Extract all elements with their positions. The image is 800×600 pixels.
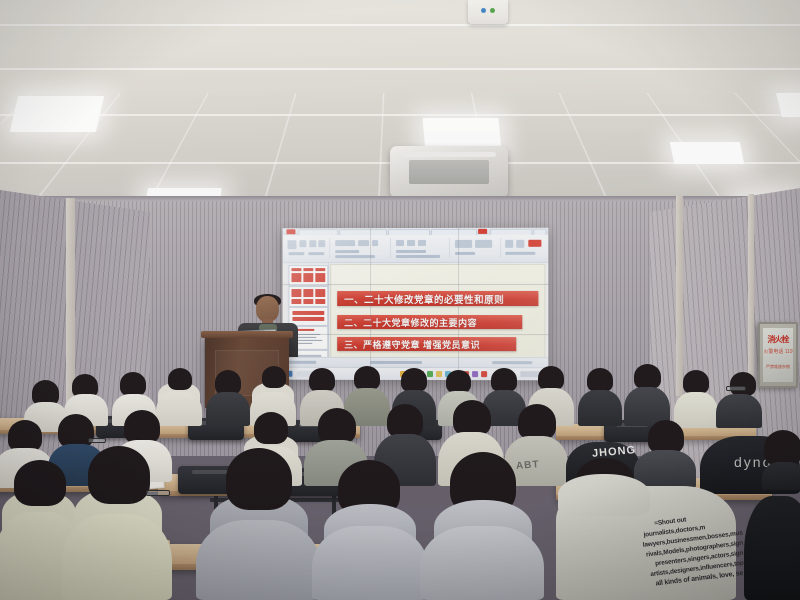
student-torso — [762, 462, 800, 490]
student-torso — [312, 526, 428, 600]
wall-pillar-far-right — [748, 194, 754, 394]
led-panel-light-5 — [670, 142, 745, 164]
student-hair — [453, 400, 491, 436]
ceiling-ac-vent-icon — [390, 146, 508, 198]
student-front-7 — [744, 496, 800, 600]
student-glasses — [146, 490, 170, 496]
student-hair — [262, 366, 286, 388]
slide-band-3: 三、严格遵守党章 增强党员意识 — [337, 337, 516, 351]
hydrant-label-line1: 消火栓 — [762, 334, 794, 345]
current-slide[interactable]: 一、二十大修改党章的必要性和原则 二、二十大党章修改的主要内容 三、严格遵守党章… — [330, 264, 545, 358]
screen-seam-horizontal-1 — [283, 284, 549, 285]
student-hair — [354, 366, 380, 390]
student-hair — [491, 368, 517, 392]
student-hair — [648, 420, 684, 454]
ceiling-sensor-icon — [468, 0, 508, 24]
student-hair — [168, 368, 192, 390]
student-hair — [446, 370, 471, 393]
active-document-tab[interactable] — [478, 229, 487, 234]
student-far-14 — [624, 364, 670, 426]
student-front-3 — [196, 448, 320, 600]
slide-band-2: 二、二十大党章修改的主要内容 — [337, 315, 522, 329]
screen-seam-horizontal-2 — [283, 334, 549, 335]
student-hair — [318, 408, 356, 444]
student-hair — [518, 404, 556, 440]
projection-screen[interactable]: 一、二十大修改党章的必要性和原则 二、二十大党章修改的主要内容 三、严格遵守党章… — [283, 228, 549, 381]
ribbon-toolbar[interactable] — [283, 235, 549, 263]
student-front-4 — [312, 460, 428, 600]
student-front-2 — [62, 446, 172, 600]
wall-pillar-right — [676, 196, 683, 396]
student-hair — [764, 430, 800, 466]
student-hair — [634, 364, 661, 389]
ribbon-group-paragraph[interactable] — [393, 238, 450, 258]
ribbon-group-editing[interactable] — [503, 238, 545, 258]
slide-band-1: 一、二十大修改党章的必要性和原则 — [337, 291, 538, 306]
student-torso — [62, 514, 172, 600]
student-torso — [578, 390, 622, 426]
student-hair — [538, 366, 564, 390]
student-glasses — [726, 386, 746, 391]
student-hair — [683, 370, 709, 394]
hydrant-label-line3: 严禁堆放杂物 — [762, 364, 794, 370]
ribbon-group-clipboard[interactable] — [285, 238, 330, 258]
student-hair — [88, 446, 150, 504]
screen-seam-vertical-2 — [458, 228, 459, 380]
student-hood — [558, 474, 650, 516]
fire-hydrant-cabinet: 消火栓 火警电话 119 严禁堆放杂物 — [758, 322, 798, 388]
student-mid-12 — [762, 430, 800, 490]
ribbon-group-styles[interactable] — [452, 238, 501, 258]
student-far-13 — [578, 368, 622, 426]
student-torso — [420, 526, 544, 600]
classroom-photo-scene: 消火栓 火警电话 119 严禁堆放杂物 — [0, 0, 800, 600]
student-torso — [196, 520, 320, 600]
led-panel-light-1 — [10, 96, 104, 132]
student-torso — [744, 496, 800, 600]
student-hair — [124, 410, 160, 444]
student-hair — [730, 372, 756, 396]
student-hair — [14, 460, 66, 506]
screen-seam-vertical-1 — [370, 228, 371, 380]
ribbon-group-font[interactable] — [332, 238, 391, 258]
student-hair — [401, 368, 427, 392]
student-front-5 — [420, 452, 544, 600]
app-logo-icon — [286, 229, 295, 234]
slide-thumbnail-1[interactable] — [288, 265, 328, 286]
student-torso — [716, 394, 762, 428]
hydrant-label-line2: 火警电话 119 — [762, 348, 794, 355]
student-hair — [387, 404, 423, 438]
student-hair — [254, 412, 288, 444]
student-hair — [226, 448, 292, 510]
student-hair — [587, 368, 613, 392]
student-glasses — [88, 438, 106, 443]
student-far-16 — [716, 372, 762, 428]
